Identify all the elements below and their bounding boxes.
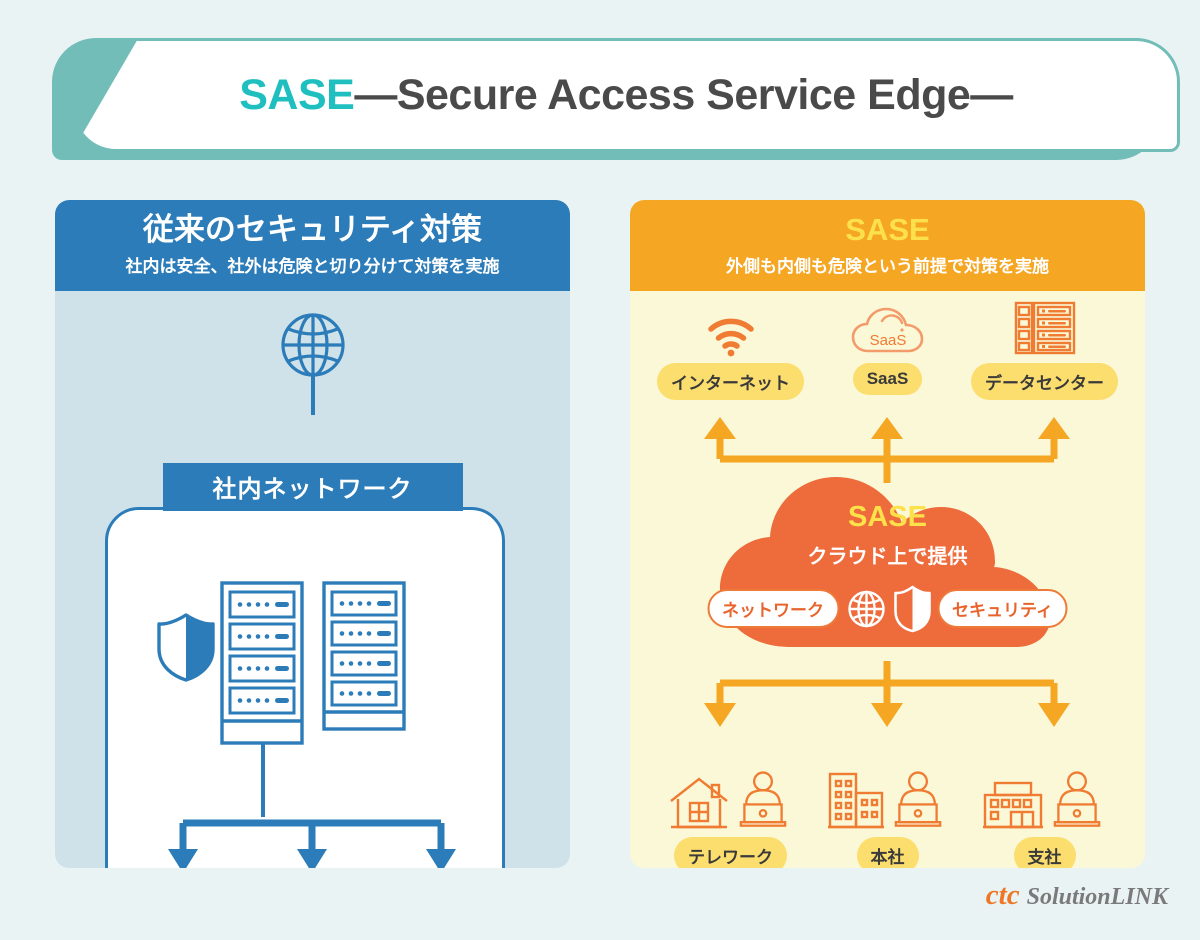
rack-connector-line [261,743,265,817]
sase-cloud: SASE クラウド上で提供 ネットワーク [698,469,1078,669]
right-panel-header: SASE 外側も内側も危険という前提で対策を実施 [630,200,1145,291]
right-panel-subheading: 外側も内側も危険という前提で対策を実施 [636,252,1139,277]
destination-internet: インターネット [652,299,809,400]
page-title: SASE—Secure Access Service Edge— [239,71,1013,120]
wifi-icon [705,299,757,357]
server-racks [220,581,406,745]
location-headquarters: 本社 [809,721,966,868]
destination-datacenter: データセンター [966,299,1123,400]
sase-cloud-subtitle: クラウド上で提供 [698,540,1078,569]
left-panel-header: 従来のセキュリティ対策 社内は安全、社外は危険と切り分けて対策を実施 [55,200,570,291]
datacenter-icon [1013,299,1077,357]
server-rack-icon [220,581,304,745]
house-icon [668,775,730,831]
shield-icon [155,611,217,688]
destination-row: インターネット SaaS SaaS [630,299,1145,400]
left-panel-heading: 従来のセキュリティ対策 [61,212,564,248]
title-banner: SASE—Secure Access Service Edge— [52,38,1180,160]
location-telework: テレワーク [652,721,809,868]
user-laptop-icon [732,769,794,831]
right-panel-heading: SASE [636,212,1139,248]
sase-panel: SASE 外側も内側も危険という前提で対策を実施 インターネット [630,200,1145,868]
location-row: テレワーク [630,721,1145,868]
network-pill: ネットワーク [707,589,839,628]
destination-saas: SaaS SaaS [809,299,966,400]
destination-datacenter-label: データセンター [971,363,1118,400]
sase-cloud-text: SASE クラウド上で提供 [698,469,1078,569]
server-rack-icon [322,581,406,731]
left-panel-body: 社内ネットワーク [55,291,570,868]
location-headquarters-label: 本社 [857,837,919,868]
destination-internet-label: インターネット [657,363,804,400]
office-buildings-icon [827,771,885,831]
banner-face: SASE—Secure Access Service Edge— [72,38,1180,152]
ctc-solutionlink-logo: ctc SolutionLINK [986,879,1168,912]
traditional-security-panel: 従来のセキュリティ対策 社内は安全、社外は危険と切り分けて対策を実施 社内ネット… [55,200,570,868]
left-panel-subheading: 社内は安全、社外は危険と切り分けて対策を実施 [61,252,564,277]
page-title-accent: SASE [239,71,354,119]
globe-connector-line [311,373,315,415]
security-pill: セキュリティ [937,589,1068,628]
sase-capability-row: ネットワーク [707,585,1068,633]
location-branch-label: 支社 [1014,837,1076,868]
globe-icon [845,588,887,630]
branch-office-icon [982,779,1044,831]
svg-text:SaaS: SaaS [869,332,906,349]
saas-cloud-icon: SaaS [850,299,926,357]
distribution-tree-left [55,811,570,868]
user-laptop-icon [887,769,949,831]
logo-mark: ctc [986,879,1020,912]
logo-text: SolutionLINK [1027,884,1168,911]
shield-icon [893,585,931,633]
sase-cloud-title: SASE [698,501,1078,534]
right-panel-body: インターネット SaaS SaaS [630,291,1145,868]
destination-saas-label: SaaS [853,363,923,395]
location-branch: 支社 [966,721,1123,868]
internal-network-label: 社内ネットワーク [163,463,463,511]
location-telework-label: テレワーク [674,837,787,868]
page-title-rest: —Secure Access Service Edge— [354,71,1012,119]
user-laptop-icon [1046,769,1108,831]
